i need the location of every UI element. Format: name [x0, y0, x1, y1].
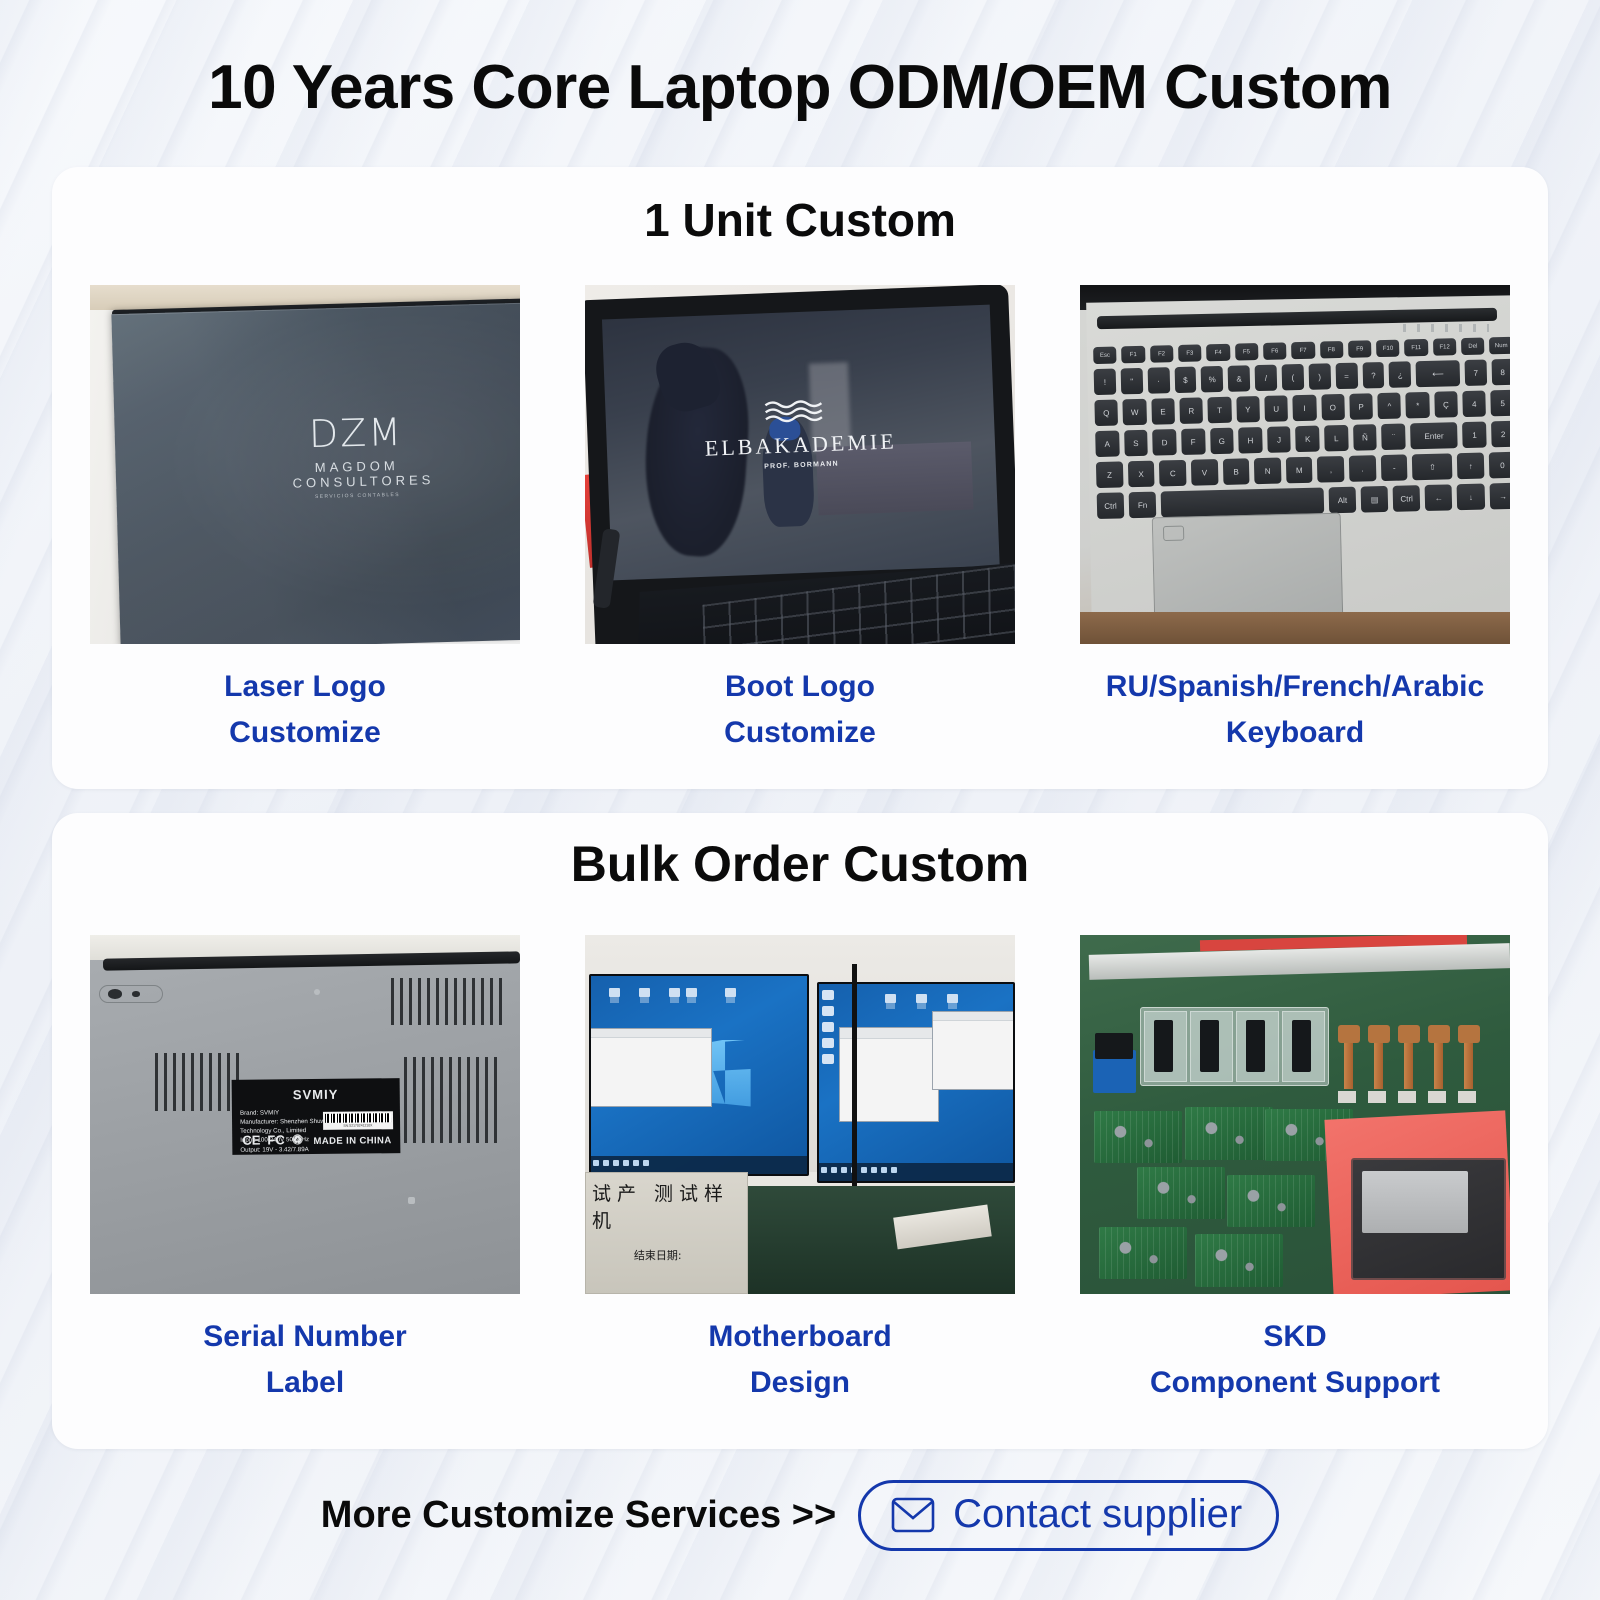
- barcode-bars: [324, 1113, 391, 1122]
- key[interactable]: ?: [1362, 362, 1384, 389]
- item-boot-logo[interactable]: ELBAKADEMIE PROF. BORMANN Boot Logo Cust…: [585, 285, 1015, 756]
- photo-laptop-screen-boot-logo[interactable]: ELBAKADEMIE PROF. BORMANN: [585, 285, 1015, 644]
- key[interactable]: 4: [1462, 391, 1486, 418]
- photo-motherboard-test-bench[interactable]: 试产 测试样机 结束日期:: [585, 935, 1015, 1294]
- key[interactable]: R: [1179, 398, 1203, 425]
- key[interactable]: F12: [1432, 339, 1456, 357]
- key[interactable]: C: [1159, 460, 1186, 487]
- key[interactable]: F4: [1206, 344, 1230, 362]
- photo-skd-components[interactable]: [1080, 935, 1510, 1294]
- label-serial-number: Serial Number Label: [90, 1314, 520, 1406]
- waves-icon: [763, 397, 836, 426]
- one-unit-items-grid: DZM MAGDOM CONSULTORES SERVICIOS CONTABL…: [52, 285, 1548, 756]
- key-alt[interactable]: Alt: [1328, 487, 1356, 514]
- bulk-order-items-grid: SVMIY Brand: SVMIY Manufacturer: Shenzhe…: [52, 935, 1548, 1406]
- keyboard-row-bottom-letters: Z X C V B N M , . - ⇧ ↑ 0: [1089, 452, 1510, 488]
- key[interactable]: M: [1285, 457, 1312, 484]
- key[interactable]: B: [1222, 459, 1249, 486]
- key[interactable]: ↑: [1457, 453, 1484, 480]
- key[interactable]: Del: [1461, 338, 1485, 356]
- laptop-display: ELBAKADEMIE PROF. BORMANN: [602, 305, 999, 581]
- clear-component-tray: [1140, 1007, 1329, 1086]
- key[interactable]: ^: [1377, 393, 1401, 420]
- hanging-cable: [852, 964, 857, 1187]
- barcode-number: SN:S2170241210X: [325, 1123, 391, 1129]
- key[interactable]: 8: [1491, 359, 1510, 386]
- metal-rail: [1088, 943, 1510, 980]
- key[interactable]: 7: [1464, 360, 1486, 387]
- item-motherboard-design[interactable]: 试产 测试样机 结束日期: Motherboard Design: [585, 935, 1015, 1406]
- key[interactable]: H: [1238, 427, 1262, 454]
- taskbar: [819, 1163, 1013, 1181]
- key[interactable]: X: [1127, 461, 1154, 488]
- certification-marks: CE FC ♽: [242, 1130, 303, 1150]
- tray-cell: [1144, 1011, 1187, 1082]
- vent-grille-right: [404, 1057, 499, 1143]
- windows-desktop-left: [591, 976, 806, 1173]
- copper-heatsinks-group: [1338, 1025, 1510, 1104]
- label-motherboard-design: Motherboard Design: [585, 1314, 1015, 1406]
- key-arrow-left[interactable]: ←: [1424, 485, 1452, 512]
- key[interactable]: ¿: [1389, 362, 1411, 389]
- key[interactable]: ): [1308, 364, 1330, 391]
- key-arrow-down[interactable]: ↓: [1457, 484, 1485, 511]
- key[interactable]: P: [1349, 394, 1373, 421]
- key[interactable]: ¨: [1381, 424, 1405, 451]
- key[interactable]: F8: [1319, 341, 1343, 359]
- footer-bar: More Customize Services >> Contact suppl…: [0, 1480, 1600, 1551]
- keyboard-row-numbers: ! " · $ % & / ( ) = ? ¿ ⟵: [1087, 359, 1510, 395]
- more-customize-services-text: More Customize Services >>: [321, 1494, 836, 1537]
- label-line2: Customize: [585, 710, 1015, 756]
- laptop-chassis-bottom: [1351, 1158, 1506, 1280]
- status-led-row: [1403, 324, 1489, 331]
- key[interactable]: %: [1201, 366, 1223, 393]
- keyboard-keys-texture: [703, 564, 1015, 644]
- one-unit-custom-card: 1 Unit Custom DZM MAGDOM CONSULTORES SER…: [52, 167, 1548, 789]
- rubber-feet-group: [99, 985, 164, 1003]
- key-shift[interactable]: ⇧: [1412, 454, 1453, 481]
- key-menu[interactable]: ▤: [1360, 486, 1388, 513]
- dialog-window: [591, 1028, 712, 1107]
- key[interactable]: Z: [1095, 462, 1122, 489]
- key[interactable]: W: [1122, 399, 1146, 426]
- label-line1: Motherboard: [708, 1320, 891, 1353]
- photo-laptop-keyboard-multilang[interactable]: Esc F1 F2 F3 F4 F5 F6 F7 F8 F9 F10 F11: [1080, 285, 1510, 644]
- motherboard: [1185, 1107, 1273, 1159]
- key[interactable]: K: [1295, 426, 1319, 453]
- motherboard: [1227, 1175, 1315, 1227]
- label-line2: Design: [585, 1360, 1015, 1406]
- key[interactable]: F11: [1404, 339, 1428, 357]
- taskbar: [591, 1156, 806, 1174]
- blue-parts-bin: [1093, 1050, 1136, 1093]
- key[interactable]: ": [1120, 368, 1142, 395]
- key[interactable]: F9: [1347, 341, 1371, 359]
- label-brand-row: Brand: SVMIY: [240, 1107, 336, 1117]
- logo-monogram: DZM: [291, 413, 421, 454]
- key[interactable]: Ç: [1434, 392, 1458, 419]
- key[interactable]: (: [1281, 364, 1303, 391]
- item-serial-number-label[interactable]: SVMIY Brand: SVMIY Manufacturer: Shenzhe…: [90, 935, 520, 1406]
- key[interactable]: F5: [1234, 343, 1258, 361]
- key[interactable]: 5: [1490, 390, 1510, 417]
- motherboard: [1195, 1234, 1283, 1286]
- vent-grille-top-right: [391, 978, 503, 1025]
- key-backspace[interactable]: ⟵: [1415, 361, 1459, 388]
- desktop-icon-column: [819, 984, 836, 1165]
- contact-supplier-label: Contact supplier: [953, 1492, 1242, 1537]
- key[interactable]: S: [1123, 430, 1147, 457]
- recycle-mark-icon: ♽: [291, 1130, 303, 1150]
- sign-line-2: 结束日期:: [592, 1247, 741, 1263]
- label-line2: Keyboard: [1080, 710, 1510, 756]
- test-sample-sign: 试产 测试样机 结束日期:: [585, 1172, 748, 1294]
- key-arrow-right[interactable]: →: [1489, 483, 1510, 510]
- key[interactable]: I: [1292, 395, 1316, 422]
- label-line1: Boot Logo: [725, 670, 875, 703]
- key[interactable]: 1: [1462, 422, 1486, 449]
- monitor-right: [817, 982, 1015, 1183]
- keyboard-row-home: A S D F G H J K L Ñ ¨ Enter 1: [1089, 421, 1510, 457]
- key[interactable]: J: [1267, 427, 1291, 454]
- label-skd-component-support: SKD Component Support: [1080, 1314, 1510, 1406]
- key[interactable]: A: [1095, 431, 1119, 458]
- key[interactable]: *: [1405, 392, 1429, 419]
- key[interactable]: Q: [1094, 400, 1118, 427]
- key-enter[interactable]: Enter: [1410, 423, 1458, 450]
- windows-desktop-right: [819, 984, 1013, 1181]
- key[interactable]: &: [1227, 366, 1249, 393]
- serial-number-label: SVMIY Brand: SVMIY Manufacturer: Shenzhe…: [232, 1078, 400, 1155]
- laptop-body: ELBAKADEMIE PROF. BORMANN: [585, 285, 1015, 644]
- vent-grille-left: [155, 1053, 241, 1110]
- page-title: 10 Years Core Laptop ODM/OEM Custom: [0, 52, 1600, 123]
- motherboards-group: [1089, 1107, 1356, 1294]
- key[interactable]: F1: [1121, 346, 1145, 364]
- key[interactable]: F7: [1291, 342, 1315, 360]
- heatsink: [1458, 1025, 1480, 1104]
- key[interactable]: -: [1380, 455, 1407, 482]
- label-boot-logo: Boot Logo Customize: [585, 664, 1015, 756]
- key[interactable]: L: [1324, 425, 1348, 452]
- key[interactable]: E: [1151, 399, 1175, 426]
- label-line2: Component Support: [1080, 1360, 1510, 1406]
- key[interactable]: F10: [1376, 340, 1400, 358]
- heatsink: [1338, 1025, 1360, 1104]
- heatsink: [1428, 1025, 1450, 1104]
- label-line1: Laser Logo: [224, 670, 386, 703]
- made-in-text: MADE IN CHINA: [313, 1134, 391, 1149]
- barcode: SN:S2170241210X: [322, 1111, 393, 1130]
- keyboard-row-qwerty: Q W E R T Y U I O P ^ * Ç: [1088, 390, 1510, 426]
- envelope-icon: [891, 1497, 935, 1533]
- key[interactable]: Esc: [1093, 347, 1117, 365]
- key[interactable]: O: [1320, 394, 1344, 421]
- key[interactable]: F3: [1178, 345, 1202, 363]
- key[interactable]: F6: [1263, 343, 1287, 361]
- motherboard: [1099, 1227, 1187, 1279]
- tray-cell: [1236, 1011, 1279, 1082]
- label-brand-title: SVMIY: [240, 1084, 392, 1105]
- key-ctrl[interactable]: Ctrl: [1096, 493, 1124, 520]
- key[interactable]: U: [1264, 396, 1288, 423]
- key[interactable]: 2: [1491, 421, 1510, 448]
- key[interactable]: =: [1335, 363, 1357, 390]
- label-multilang-keyboard: RU/Spanish/French/Arabic Keyboard: [1080, 664, 1510, 756]
- tray-cell: [1190, 1011, 1233, 1082]
- fingerprint-reader-icon[interactable]: [1163, 525, 1184, 541]
- rubber-foot-small: [408, 1197, 415, 1204]
- label-line1: SKD: [1263, 1320, 1326, 1353]
- key[interactable]: Num: [1489, 337, 1510, 355]
- sign-line-1: 试产 测试样机: [592, 1179, 741, 1233]
- key[interactable]: F2: [1149, 346, 1173, 364]
- key[interactable]: $: [1174, 367, 1196, 394]
- boot-logo: ELBAKADEMIE PROF. BORMANN: [703, 395, 897, 473]
- bulk-order-custom-card: Bulk Order Custom SVMIY Brand:: [52, 813, 1548, 1449]
- screw-hole: [314, 989, 320, 995]
- key[interactable]: ,: [1317, 456, 1344, 483]
- logo-name-line2: CONSULTORES: [293, 473, 422, 491]
- key[interactable]: V: [1190, 460, 1217, 487]
- photo-laptop-lid-laser-logo[interactable]: DZM MAGDOM CONSULTORES SERVICIOS CONTABL…: [90, 285, 520, 644]
- heatsink: [1398, 1025, 1420, 1104]
- ce-mark-icon: CE: [242, 1131, 260, 1151]
- key-fn[interactable]: Fn: [1128, 492, 1156, 519]
- key-ctrl-right[interactable]: Ctrl: [1392, 486, 1420, 513]
- engraved-logo: DZM MAGDOM CONSULTORES SERVICIOS CONTABL…: [291, 413, 422, 501]
- wooden-desk: [1080, 612, 1510, 644]
- item-laser-logo[interactable]: DZM MAGDOM CONSULTORES SERVICIOS CONTABL…: [90, 285, 520, 756]
- section-heading-one-unit: 1 Unit Custom: [52, 193, 1548, 247]
- key[interactable]: N: [1254, 458, 1281, 485]
- label-line1: RU/Spanish/French/Arabic: [1106, 670, 1484, 703]
- key[interactable]: Ñ: [1352, 425, 1376, 452]
- key[interactable]: !: [1093, 369, 1115, 396]
- boot-logo-name: ELBAKADEMIE: [705, 429, 898, 462]
- key[interactable]: /: [1254, 365, 1276, 392]
- section-heading-bulk-order: Bulk Order Custom: [52, 835, 1548, 893]
- trackpad[interactable]: [1152, 512, 1344, 624]
- key[interactable]: G: [1209, 428, 1233, 455]
- tray-cell: [1282, 1011, 1325, 1082]
- key[interactable]: T: [1207, 397, 1231, 424]
- dialog-window-table: [932, 1011, 1013, 1090]
- key[interactable]: Y: [1235, 396, 1259, 423]
- motherboard: [1094, 1111, 1182, 1163]
- label-line1: Serial Number: [203, 1320, 406, 1353]
- label-line2: Label: [90, 1360, 520, 1406]
- keyboard[interactable]: Esc F1 F2 F3 F4 F5 F6 F7 F8 F9 F10 F11: [1087, 337, 1510, 509]
- monitor-left: [589, 974, 808, 1175]
- key[interactable]: 0: [1488, 452, 1510, 479]
- key[interactable]: .: [1349, 456, 1376, 483]
- key[interactable]: F: [1181, 429, 1205, 456]
- motherboard: [1137, 1167, 1225, 1219]
- item-skd-component-support[interactable]: SKD Component Support: [1080, 935, 1510, 1406]
- key[interactable]: ·: [1147, 368, 1169, 395]
- photo-laptop-bottom-serial-label[interactable]: SVMIY Brand: SVMIY Manufacturer: Shenzhe…: [90, 935, 520, 1294]
- heatsink: [1368, 1025, 1390, 1104]
- fcc-mark-icon: FC: [267, 1130, 285, 1150]
- contact-supplier-button[interactable]: Contact supplier: [858, 1480, 1279, 1551]
- item-multilang-keyboard[interactable]: Esc F1 F2 F3 F4 F5 F6 F7 F8 F9 F10 F11: [1080, 285, 1510, 756]
- label-line2: Customize: [90, 710, 520, 756]
- label-laser-logo: Laser Logo Customize: [90, 664, 520, 756]
- key[interactable]: D: [1152, 430, 1176, 457]
